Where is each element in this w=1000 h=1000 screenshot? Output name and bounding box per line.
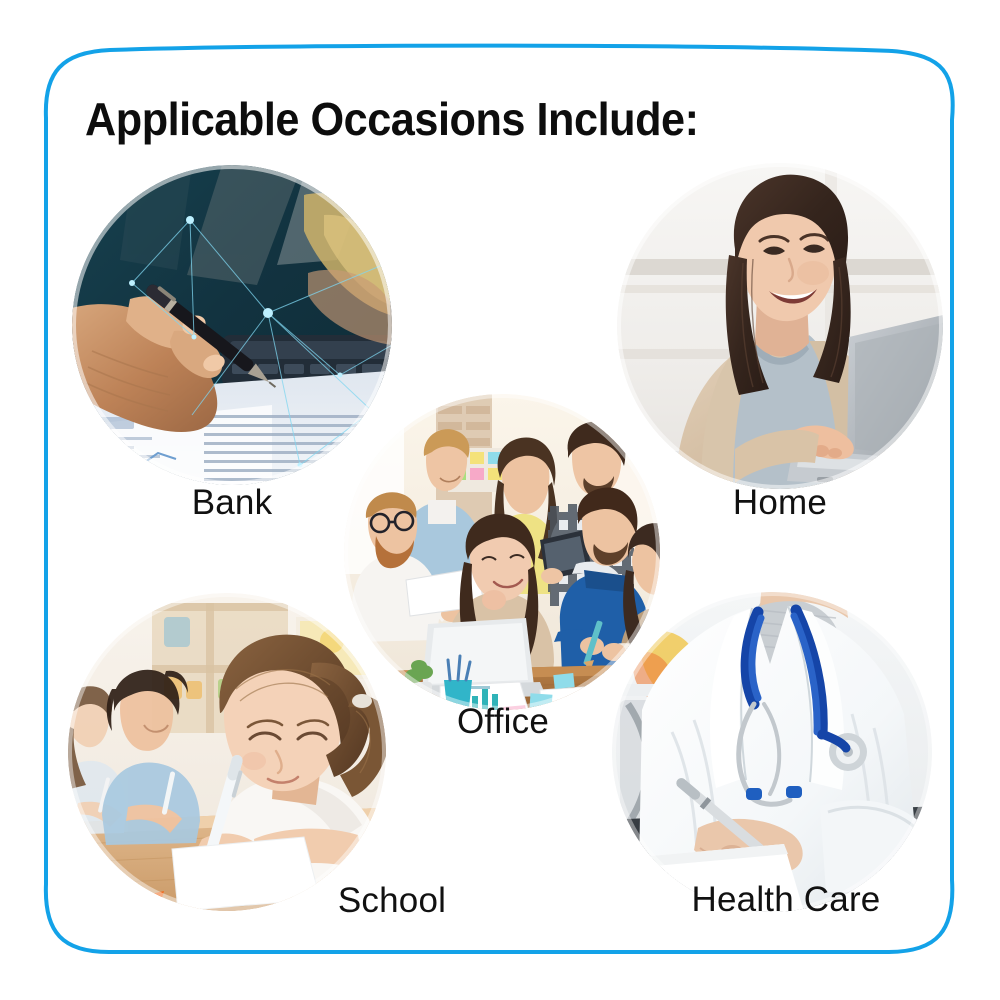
poster-canvas: Applicable Occasions Include:: [0, 0, 1000, 1000]
occasion-tile-home: Home: [617, 163, 943, 489]
school-photo: [68, 593, 386, 911]
page-title: Applicable Occasions Include:: [85, 92, 699, 146]
home-photo: [617, 163, 943, 489]
caption-health-care: Health Care: [436, 880, 1000, 920]
health-care-photo: [612, 592, 932, 912]
occasion-tile-health-care: Health Care: [612, 592, 932, 912]
occasion-tile-school: School: [68, 593, 386, 911]
